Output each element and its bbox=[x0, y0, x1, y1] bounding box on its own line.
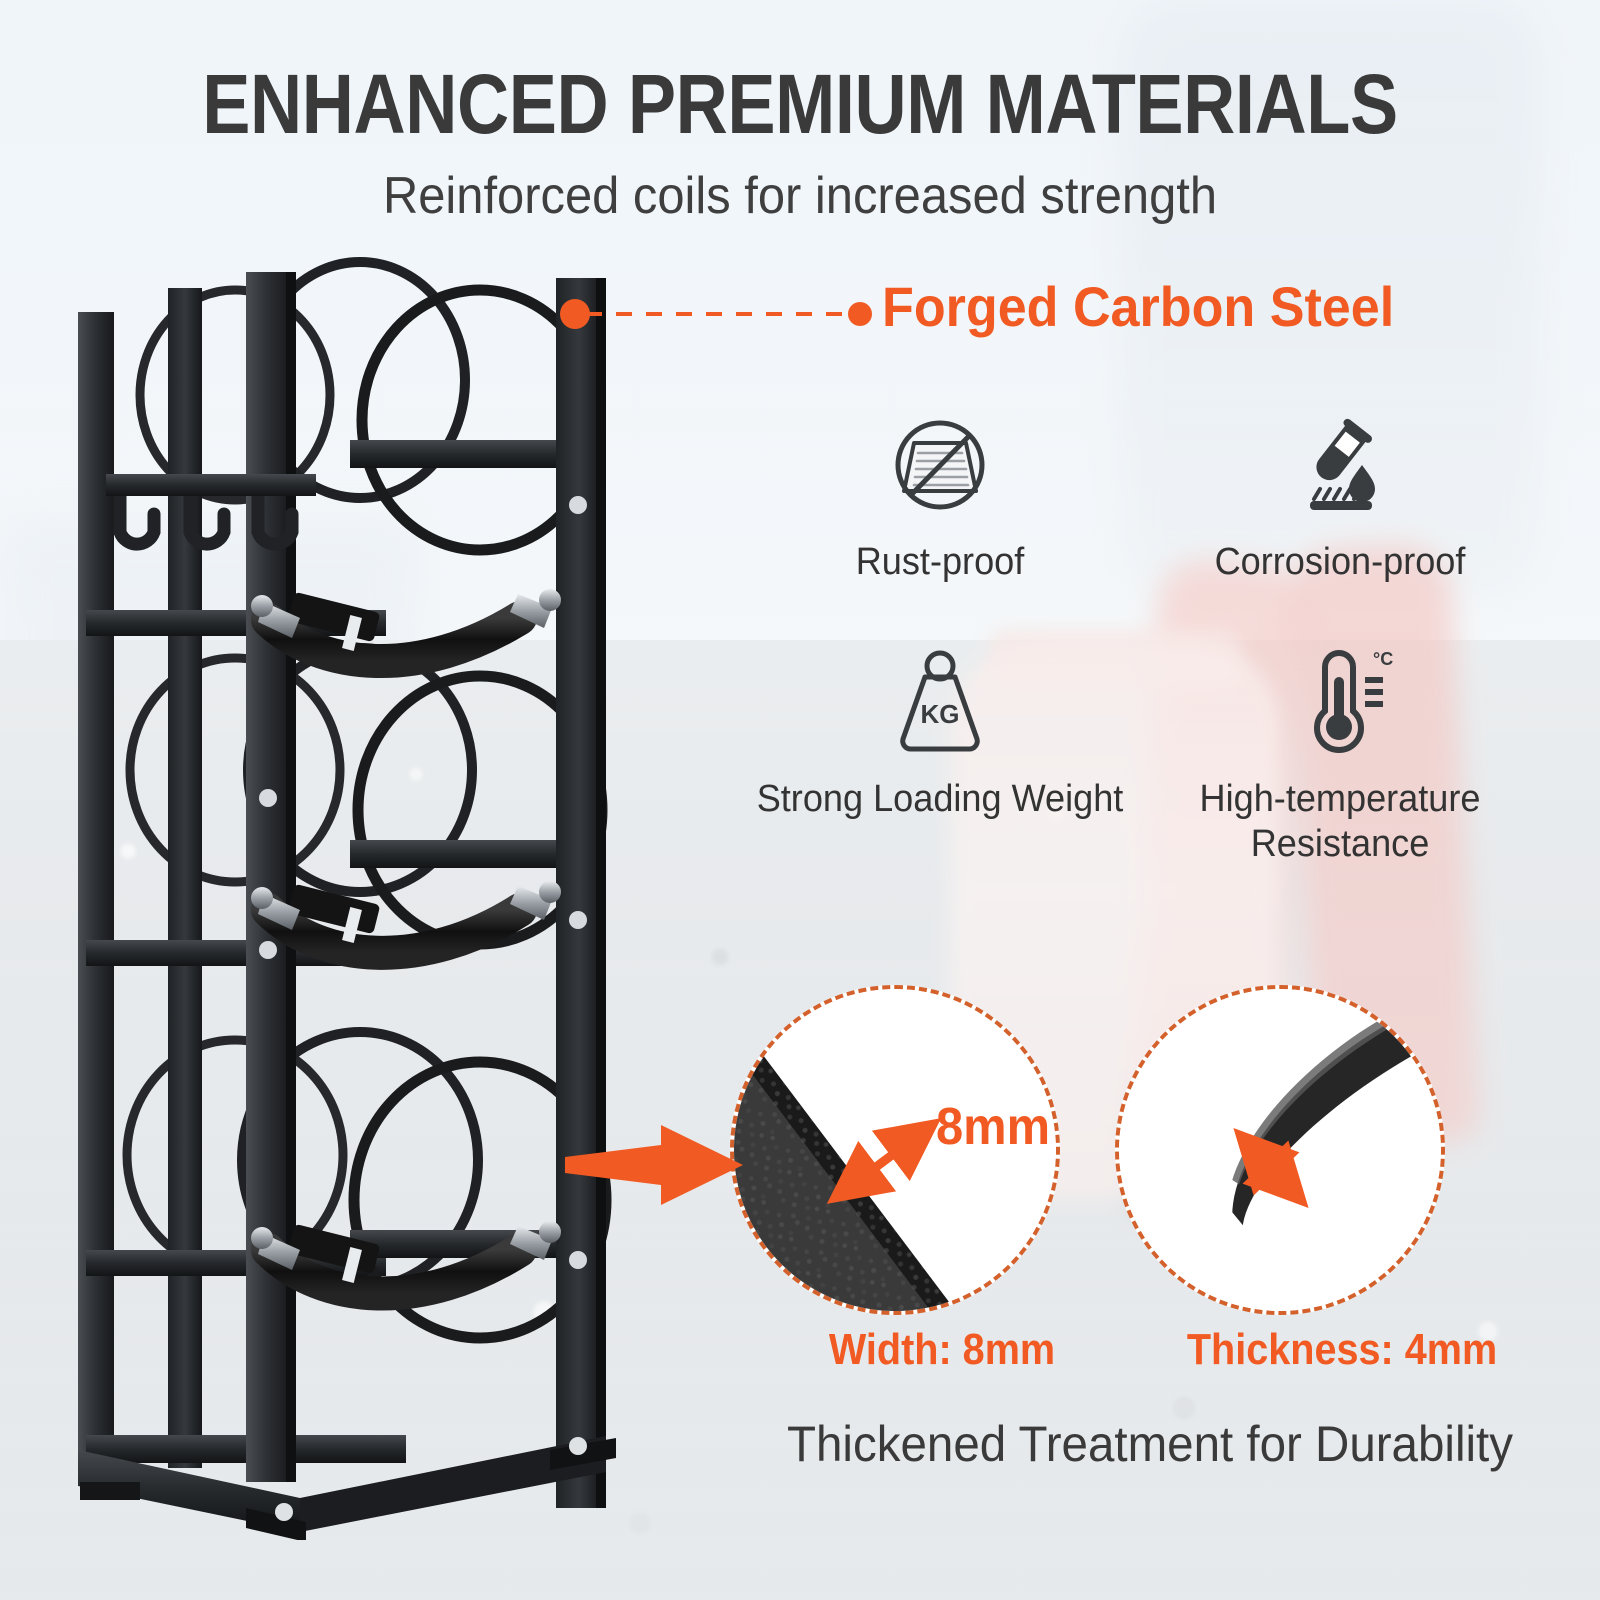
product-image-gas-cylinder-rack bbox=[50, 250, 670, 1540]
callout-dot-label bbox=[848, 302, 872, 326]
page-title: ENHANCED PREMIUM MATERIALS bbox=[112, 62, 1488, 146]
callout-dashed-line bbox=[586, 312, 856, 316]
svg-text:°C: °C bbox=[1373, 649, 1393, 669]
rack-post-right bbox=[556, 278, 602, 1508]
feature-strong-loading-weight: KG Strong Loading Weight bbox=[740, 627, 1140, 867]
feature-row-1: Rust-proof Corrosion bbox=[740, 390, 1540, 585]
caption-width: Width: 8mm bbox=[762, 1325, 1122, 1375]
detail-measure-label: 8mm bbox=[936, 1097, 1050, 1157]
kg-weight-icon: KG bbox=[740, 627, 1140, 777]
detail-circle-thickness: 4mm bbox=[1115, 985, 1445, 1315]
rack-hook-bar bbox=[106, 474, 316, 496]
feature-row-2: KG Strong Loading Weight °C bbox=[740, 627, 1540, 867]
pointer-arrow-icon bbox=[565, 1123, 745, 1213]
feature-high-temperature-resistance: °C High-temperature Resistance bbox=[1140, 627, 1540, 867]
svg-text:KG: KG bbox=[921, 699, 960, 729]
feature-corrosion-proof: Corrosion-proof bbox=[1140, 390, 1540, 585]
rack-strap-top bbox=[251, 589, 561, 661]
feature-label: Strong Loading Weight bbox=[750, 777, 1130, 822]
caption-thickness: Thickness: 4mm bbox=[1162, 1325, 1522, 1375]
page-subtitle: Reinforced coils for increased strength bbox=[48, 170, 1552, 222]
rack-crossbars-front bbox=[350, 440, 590, 1258]
callout-label: Forged Carbon Steel bbox=[882, 274, 1394, 339]
thickness-measure-arrow-icon bbox=[1119, 989, 1445, 1315]
detail-circle-width: 8mm bbox=[730, 985, 1060, 1315]
no-rust-icon bbox=[740, 390, 1140, 540]
test-tube-drop-icon bbox=[1140, 390, 1540, 540]
detail-captions: Width: 8mm Thickness: 4mm bbox=[742, 1325, 1542, 1375]
feature-label: High-temperature Resistance bbox=[1150, 777, 1530, 867]
feature-grid: Rust-proof Corrosion bbox=[740, 390, 1540, 866]
rack-post-mid-left bbox=[168, 288, 202, 1468]
feature-label: Corrosion-proof bbox=[1150, 540, 1530, 585]
rack-rings-back bbox=[127, 290, 343, 1270]
bottom-note: Thickened Treatment for Durability bbox=[723, 1415, 1578, 1473]
thermometer-icon: °C bbox=[1140, 627, 1540, 777]
feature-rust-proof: Rust-proof bbox=[740, 390, 1140, 585]
rack-post-center bbox=[246, 272, 290, 1482]
feature-label: Rust-proof bbox=[750, 540, 1130, 585]
